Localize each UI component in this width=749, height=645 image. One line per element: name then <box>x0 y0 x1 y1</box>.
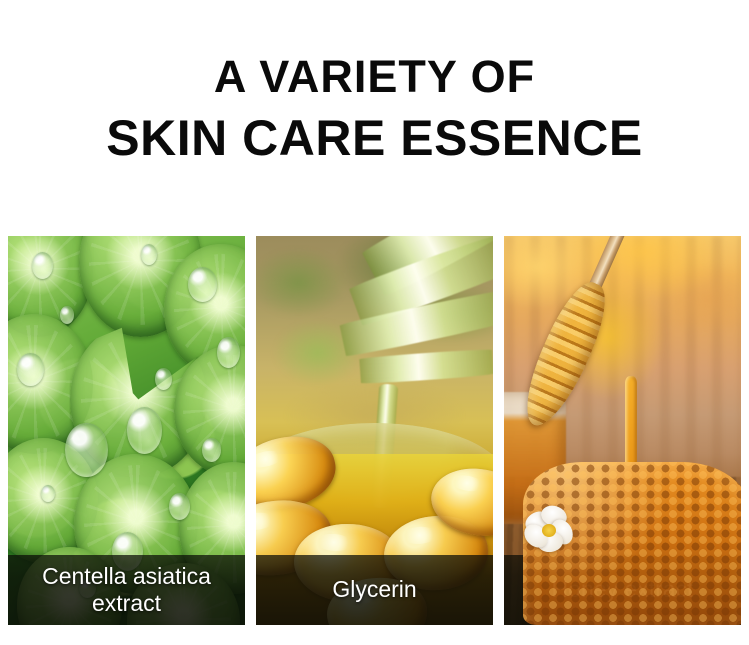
skin-care-essence-poster: A VARIETY OF SKIN CARE ESSENCE <box>0 0 749 645</box>
page-title-line-1: A VARIETY OF <box>0 54 749 99</box>
water-droplet <box>127 407 163 454</box>
page-title: A VARIETY OF SKIN CARE ESSENCE <box>0 54 749 163</box>
white-flower <box>525 508 579 556</box>
water-droplet <box>188 267 216 302</box>
water-droplet <box>32 252 53 279</box>
water-droplet <box>60 306 74 324</box>
ingredient-caption: Glycerin <box>256 555 493 625</box>
ingredient-panel-honey[interactable]: Honey extract <box>504 236 741 625</box>
ingredient-panel-glycerin[interactable]: Glycerin <box>256 236 493 625</box>
water-droplet <box>17 353 43 386</box>
water-droplet <box>65 423 108 477</box>
water-droplet <box>202 438 221 461</box>
ingredient-caption: Centella asiatica extract <box>8 555 245 625</box>
page-title-line-2: SKIN CARE ESSENCE <box>0 113 749 163</box>
water-droplet <box>155 368 172 389</box>
ingredient-panel-centella[interactable]: Centella asiatica extract <box>8 236 245 625</box>
ingredient-panel-row: Centella asiatica extract Glycerin <box>8 236 741 625</box>
